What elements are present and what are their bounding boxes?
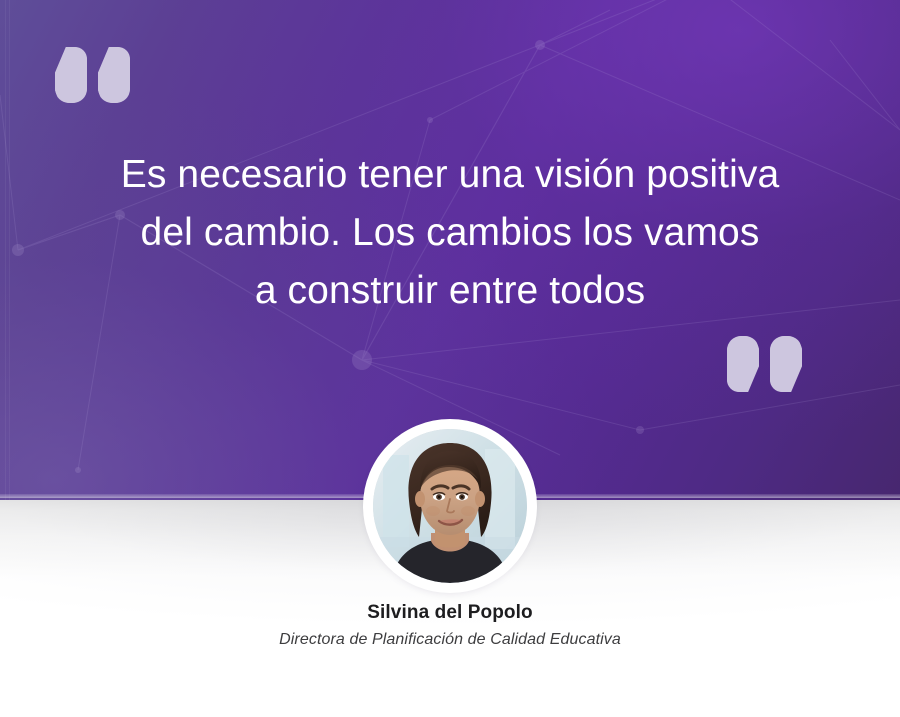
hero-edge-seam-left-secondary: [9, 0, 10, 500]
author-role: Directora de Planificación de Calidad Ed…: [0, 629, 900, 651]
testimonial-card: Es necesario tener una visión positiva d…: [0, 0, 900, 717]
avatar: [368, 424, 532, 588]
attribution: Silvina del Popolo Directora de Planific…: [0, 601, 900, 651]
quote-close-icon-stroke-1: [727, 336, 759, 392]
hero-edge-seam-left: [5, 0, 6, 500]
quote-close-icon: [727, 336, 802, 392]
quote-close-icon-stroke-2: [770, 336, 802, 392]
quote-text: Es necesario tener una visión positiva d…: [60, 146, 840, 320]
quote-open-icon: [55, 47, 130, 103]
quote-open-icon-stroke-1: [55, 47, 87, 103]
author-name: Silvina del Popolo: [0, 601, 900, 625]
avatar-photo: [373, 429, 527, 583]
quote-open-icon-stroke-2: [98, 47, 130, 103]
